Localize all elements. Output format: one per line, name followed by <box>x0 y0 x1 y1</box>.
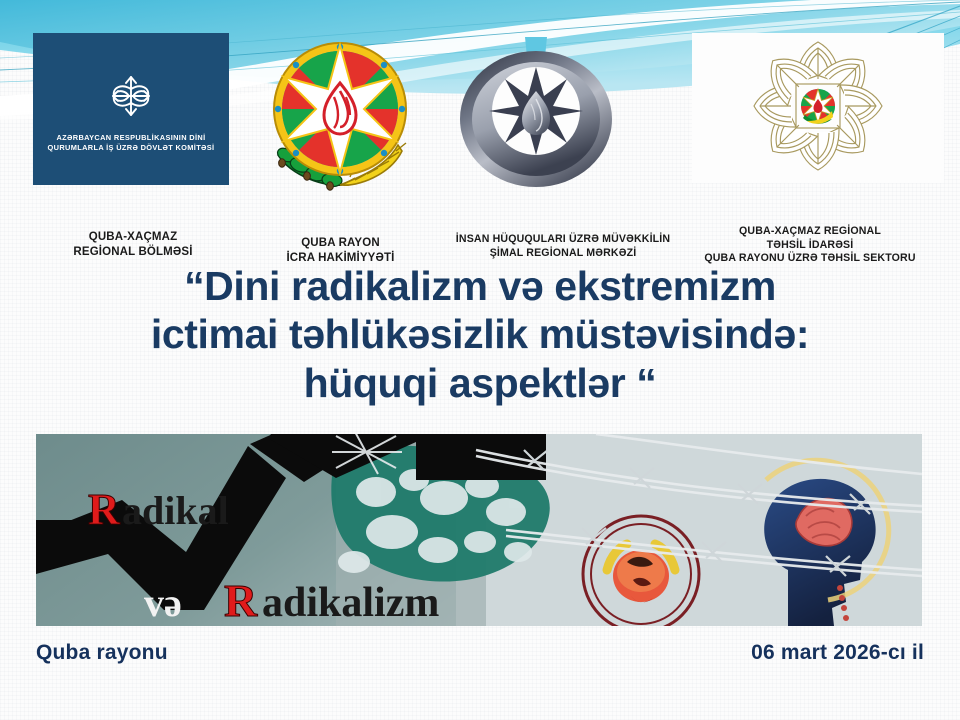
education-rosette-card <box>692 33 944 183</box>
radikal-ve-radikalizm-banner-image: R adikal və R adikalizm <box>36 434 922 626</box>
svg-text:adikal: adikal <box>122 488 229 533</box>
svg-text:R: R <box>88 485 121 534</box>
religious-committee-plaque: AZƏRBAYCAN RESPUBLİKASININ DİNİ QURUMLAR… <box>33 33 229 185</box>
slide-footer: Quba rayonu 06 mart 2026-cı il <box>0 636 960 670</box>
azerbaijan-state-emblem <box>260 33 420 198</box>
logo-ombudsman-north-regional-center <box>455 33 617 200</box>
logo-quba-xacmaz-education-department <box>692 33 944 183</box>
education-rosette-emblem <box>746 34 890 183</box>
page-title: “Dini radikalizm və ekstremizm ictimai t… <box>40 262 920 407</box>
footer-location: Quba rayonu <box>36 641 168 665</box>
organization-logo-row: AZƏRBAYCAN RESPUBLİKASININ DİNİ QURUMLAR… <box>0 33 960 248</box>
logo-caption-religious-committee: QUBA-XAÇMAZ REGİONAL BÖLMƏSİ <box>8 230 258 259</box>
svg-text:və: və <box>144 580 182 625</box>
svg-text:R: R <box>224 575 258 626</box>
logo-state-committee-religious-affairs: AZƏRBAYCAN RESPUBLİKASININ DİNİ QURUMLAR… <box>33 33 229 185</box>
footer-date: 06 mart 2026-cı il <box>751 641 924 665</box>
plaque-text: AZƏRBAYCAN RESPUBLİKASININ DİNİ QURUMLAR… <box>33 133 229 153</box>
presentation-slide: AZƏRBAYCAN RESPUBLİKASININ DİNİ QURUMLAR… <box>0 0 960 720</box>
logo-caption-education: QUBA-XAÇMAZ REGİONAL TƏHSİL İDARƏSİ QUBA… <box>660 225 960 266</box>
ombudsman-medallion-emblem <box>455 33 617 200</box>
azerbaijan-religious-committee-logo <box>105 71 157 126</box>
logo-quba-executive-power <box>260 33 420 198</box>
svg-text:adikalizm: adikalizm <box>262 580 439 626</box>
